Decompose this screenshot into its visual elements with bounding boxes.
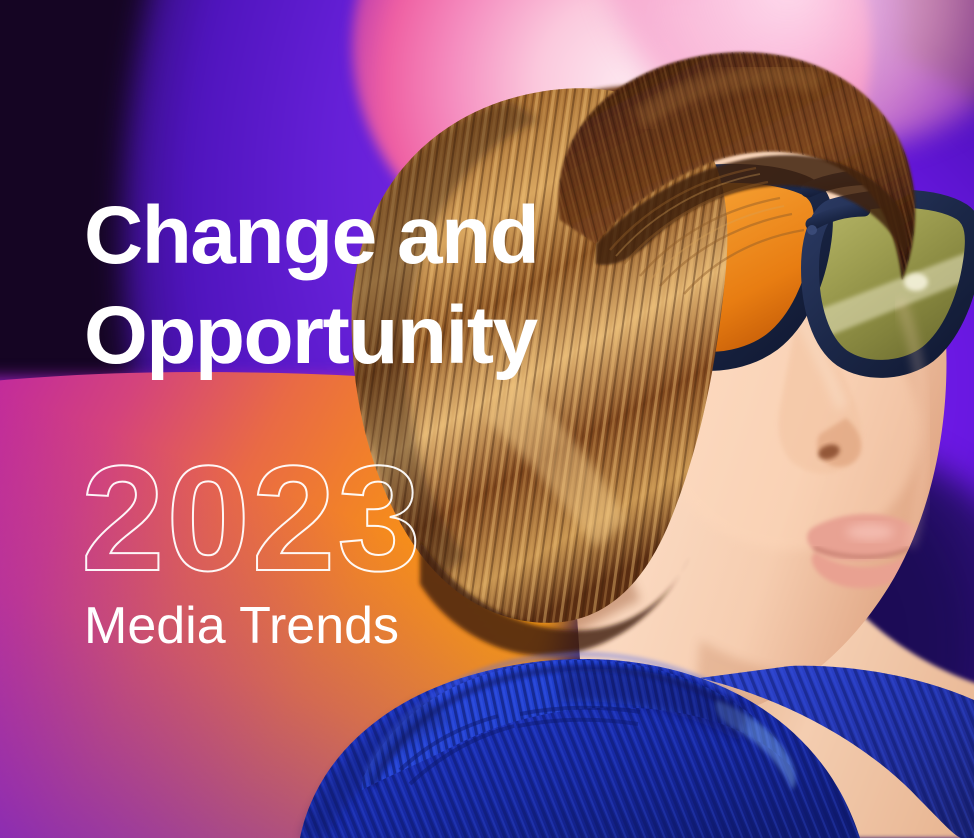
text-block: Change and Opportunity 2023 Media Trends <box>84 0 644 838</box>
year-outline: 2023 <box>81 443 423 593</box>
headline-line-2: Opportunity <box>84 286 644 386</box>
subtitle: Media Trends <box>84 598 399 654</box>
media-trends-poster: Change and Opportunity 2023 Media Trends <box>0 0 974 838</box>
lips <box>807 514 917 588</box>
headline: Change and Opportunity <box>84 186 644 386</box>
headline-line-1: Change and <box>84 186 644 286</box>
